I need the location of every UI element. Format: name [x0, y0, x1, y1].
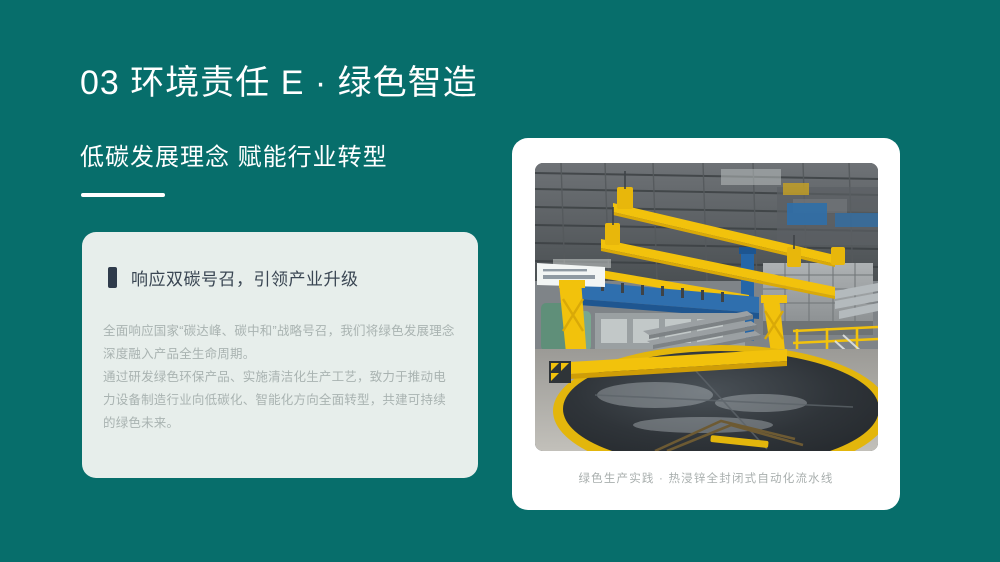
card-body: 全面响应国家“碳达峰、碳中和”战略号召，我们将绿色发展理念深度融入产品全生命周期… [103, 320, 458, 435]
slide-root: 03 环境责任 E · 绿色智造 低碳发展理念 赋能行业转型 响应双碳号召，引领… [0, 0, 1000, 562]
card-paragraph-2: 通过研发绿色环保产品、实施清洁化生产工艺，致力于推动电力设备制造行业向低碳化、智… [103, 366, 458, 435]
card-heading-row: 响应双碳号召，引领产业升级 [108, 265, 359, 290]
info-card: 响应双碳号召，引领产业升级 全面响应国家“碳达峰、碳中和”战略号召，我们将绿色发… [82, 232, 478, 478]
factory-photo-illustration [535, 163, 878, 451]
headline-divider [81, 193, 165, 197]
factory-photo [535, 163, 878, 451]
card-heading: 响应双碳号召，引领产业升级 [131, 265, 359, 290]
photo-panel: 绿色生产实践 · 热浸锌全封闭式自动化流水线 [512, 138, 900, 510]
section-subheadline: 低碳发展理念 赋能行业转型 [80, 142, 388, 173]
bar-marker-icon [108, 267, 117, 288]
section-headline: 03 环境责任 E · 绿色智造 [80, 62, 478, 105]
card-paragraph-1: 全面响应国家“碳达峰、碳中和”战略号召，我们将绿色发展理念深度融入产品全生命周期… [103, 320, 458, 366]
photo-caption: 绿色生产实践 · 热浸锌全封闭式自动化流水线 [512, 470, 900, 486]
